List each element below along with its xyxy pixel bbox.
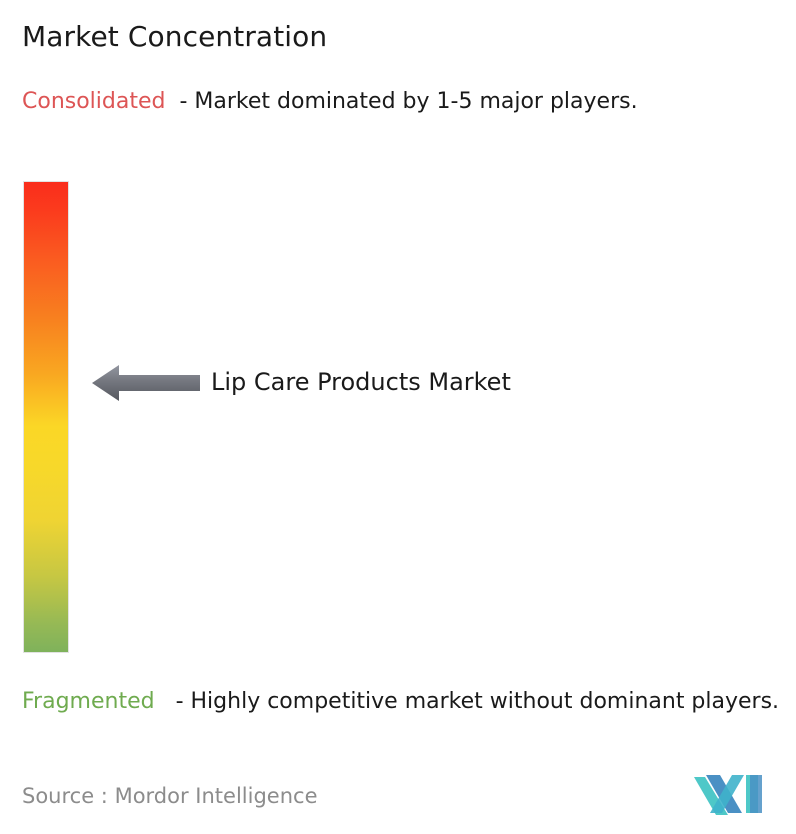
- legend-fragmented-description: Highly competitive market without domina…: [191, 689, 780, 714]
- source-label: Source :: [22, 784, 108, 808]
- arrow-left-icon: [92, 365, 200, 401]
- market-concentration-chart: Market Concentration Consolidated - Mark…: [0, 0, 796, 834]
- legend-consolidated-keyword: Consolidated: [22, 89, 165, 114]
- legend-fragmented-separator: -: [155, 689, 191, 714]
- source-attribution: Source : Mordor Intelligence: [22, 782, 317, 810]
- legend-fragmented: Fragmented - Highly competitive market w…: [22, 686, 784, 718]
- marker-label: Lip Care Products Market: [211, 366, 511, 398]
- mordor-intelligence-logo-icon: [694, 767, 770, 817]
- marker-arrow: [92, 364, 200, 402]
- legend-consolidated-description: Market dominated by 1-5 major players.: [194, 89, 637, 114]
- page-title: Market Concentration: [22, 20, 327, 54]
- legend-fragmented-keyword: Fragmented: [22, 689, 155, 714]
- legend-consolidated-separator: -: [165, 89, 194, 114]
- source-value: Mordor Intelligence: [115, 784, 318, 808]
- concentration-gradient-bar: [24, 182, 68, 652]
- source-separator: [108, 784, 115, 808]
- legend-consolidated: Consolidated - Market dominated by 1-5 m…: [22, 86, 762, 118]
